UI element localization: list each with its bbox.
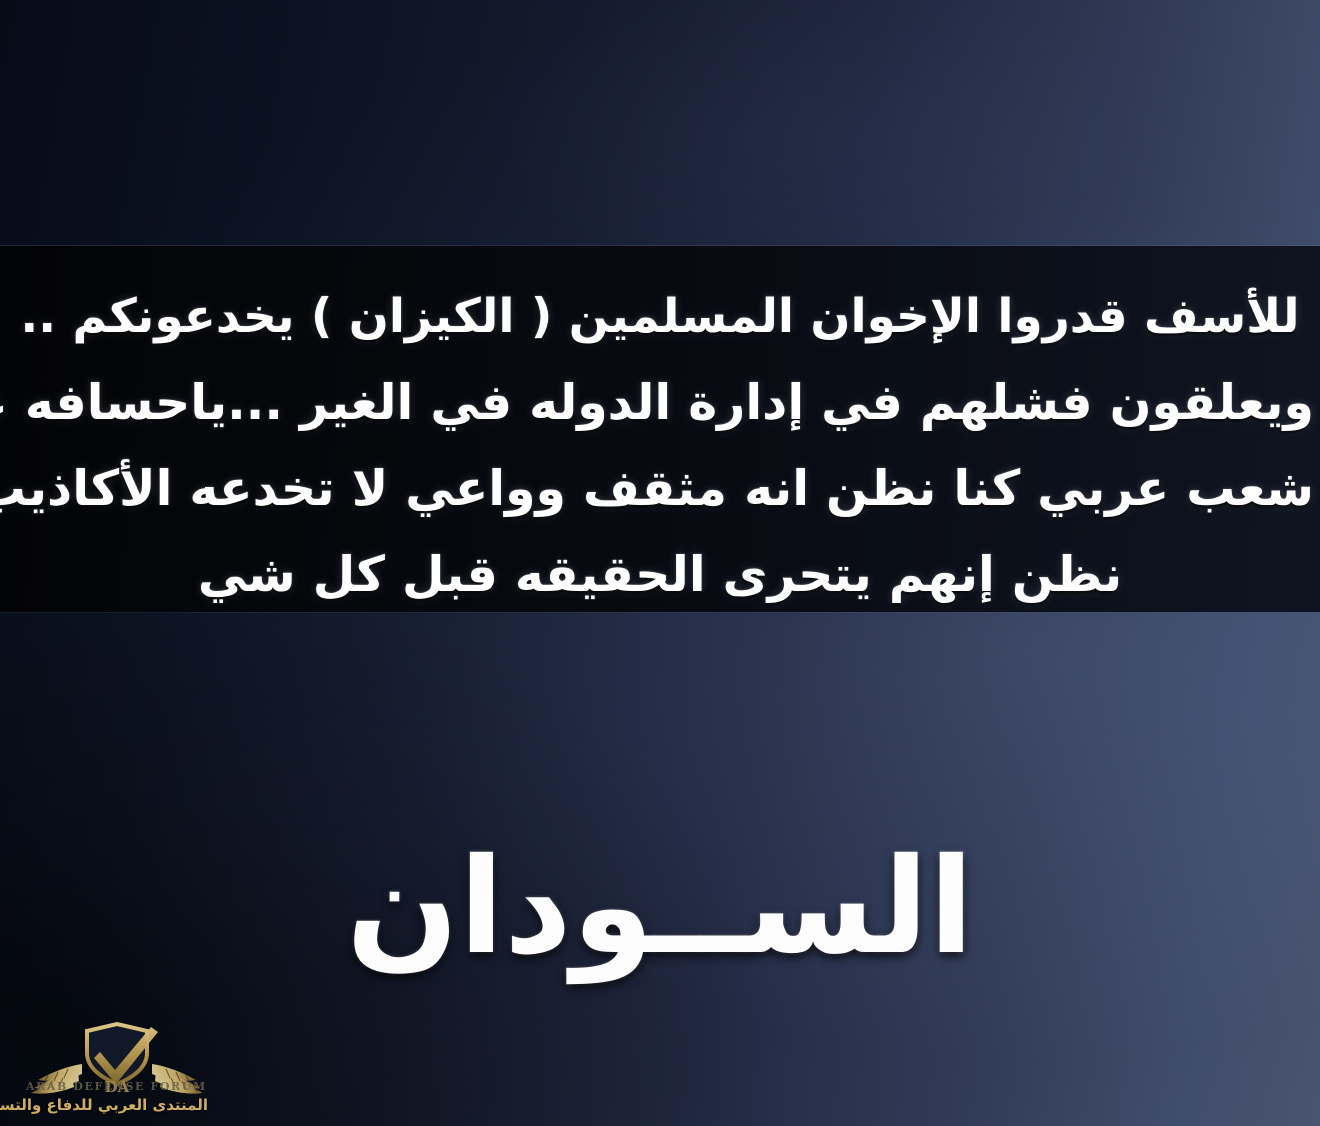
caption-line-1: للأسف قدروا الإخوان المسلمين ( الكيزان )… [6,274,1314,360]
caption-band: للأسف قدروا الإخوان المسلمين ( الكيزان )… [0,246,1320,612]
headline-sudan: الســودان [0,838,1320,977]
watermark-logo: DA ARAB DEFENSE FORUM المنتدى العربي للد… [8,1018,226,1122]
watermark-arabic-text: المنتدى العربي للدفاع والتسليح [8,1096,208,1114]
caption-text-block: للأسف قدروا الإخوان المسلمين ( الكيزان )… [0,246,1320,612]
image-canvas: للأسف قدروا الإخوان المسلمين ( الكيزان )… [0,0,1320,1126]
caption-line-2: ويعلقون فشلهم في إدارة الدوله في الغير .… [6,360,1314,446]
caption-line-3: شعب عربي كنا نظن انه مثقف وواعي لا تخدعه… [6,446,1314,532]
caption-line-4: نظن إنهم يتحرى الحقيقه قبل كل شي [6,532,1314,618]
watermark-english-text: ARAB DEFENSE FORUM [26,1080,206,1093]
